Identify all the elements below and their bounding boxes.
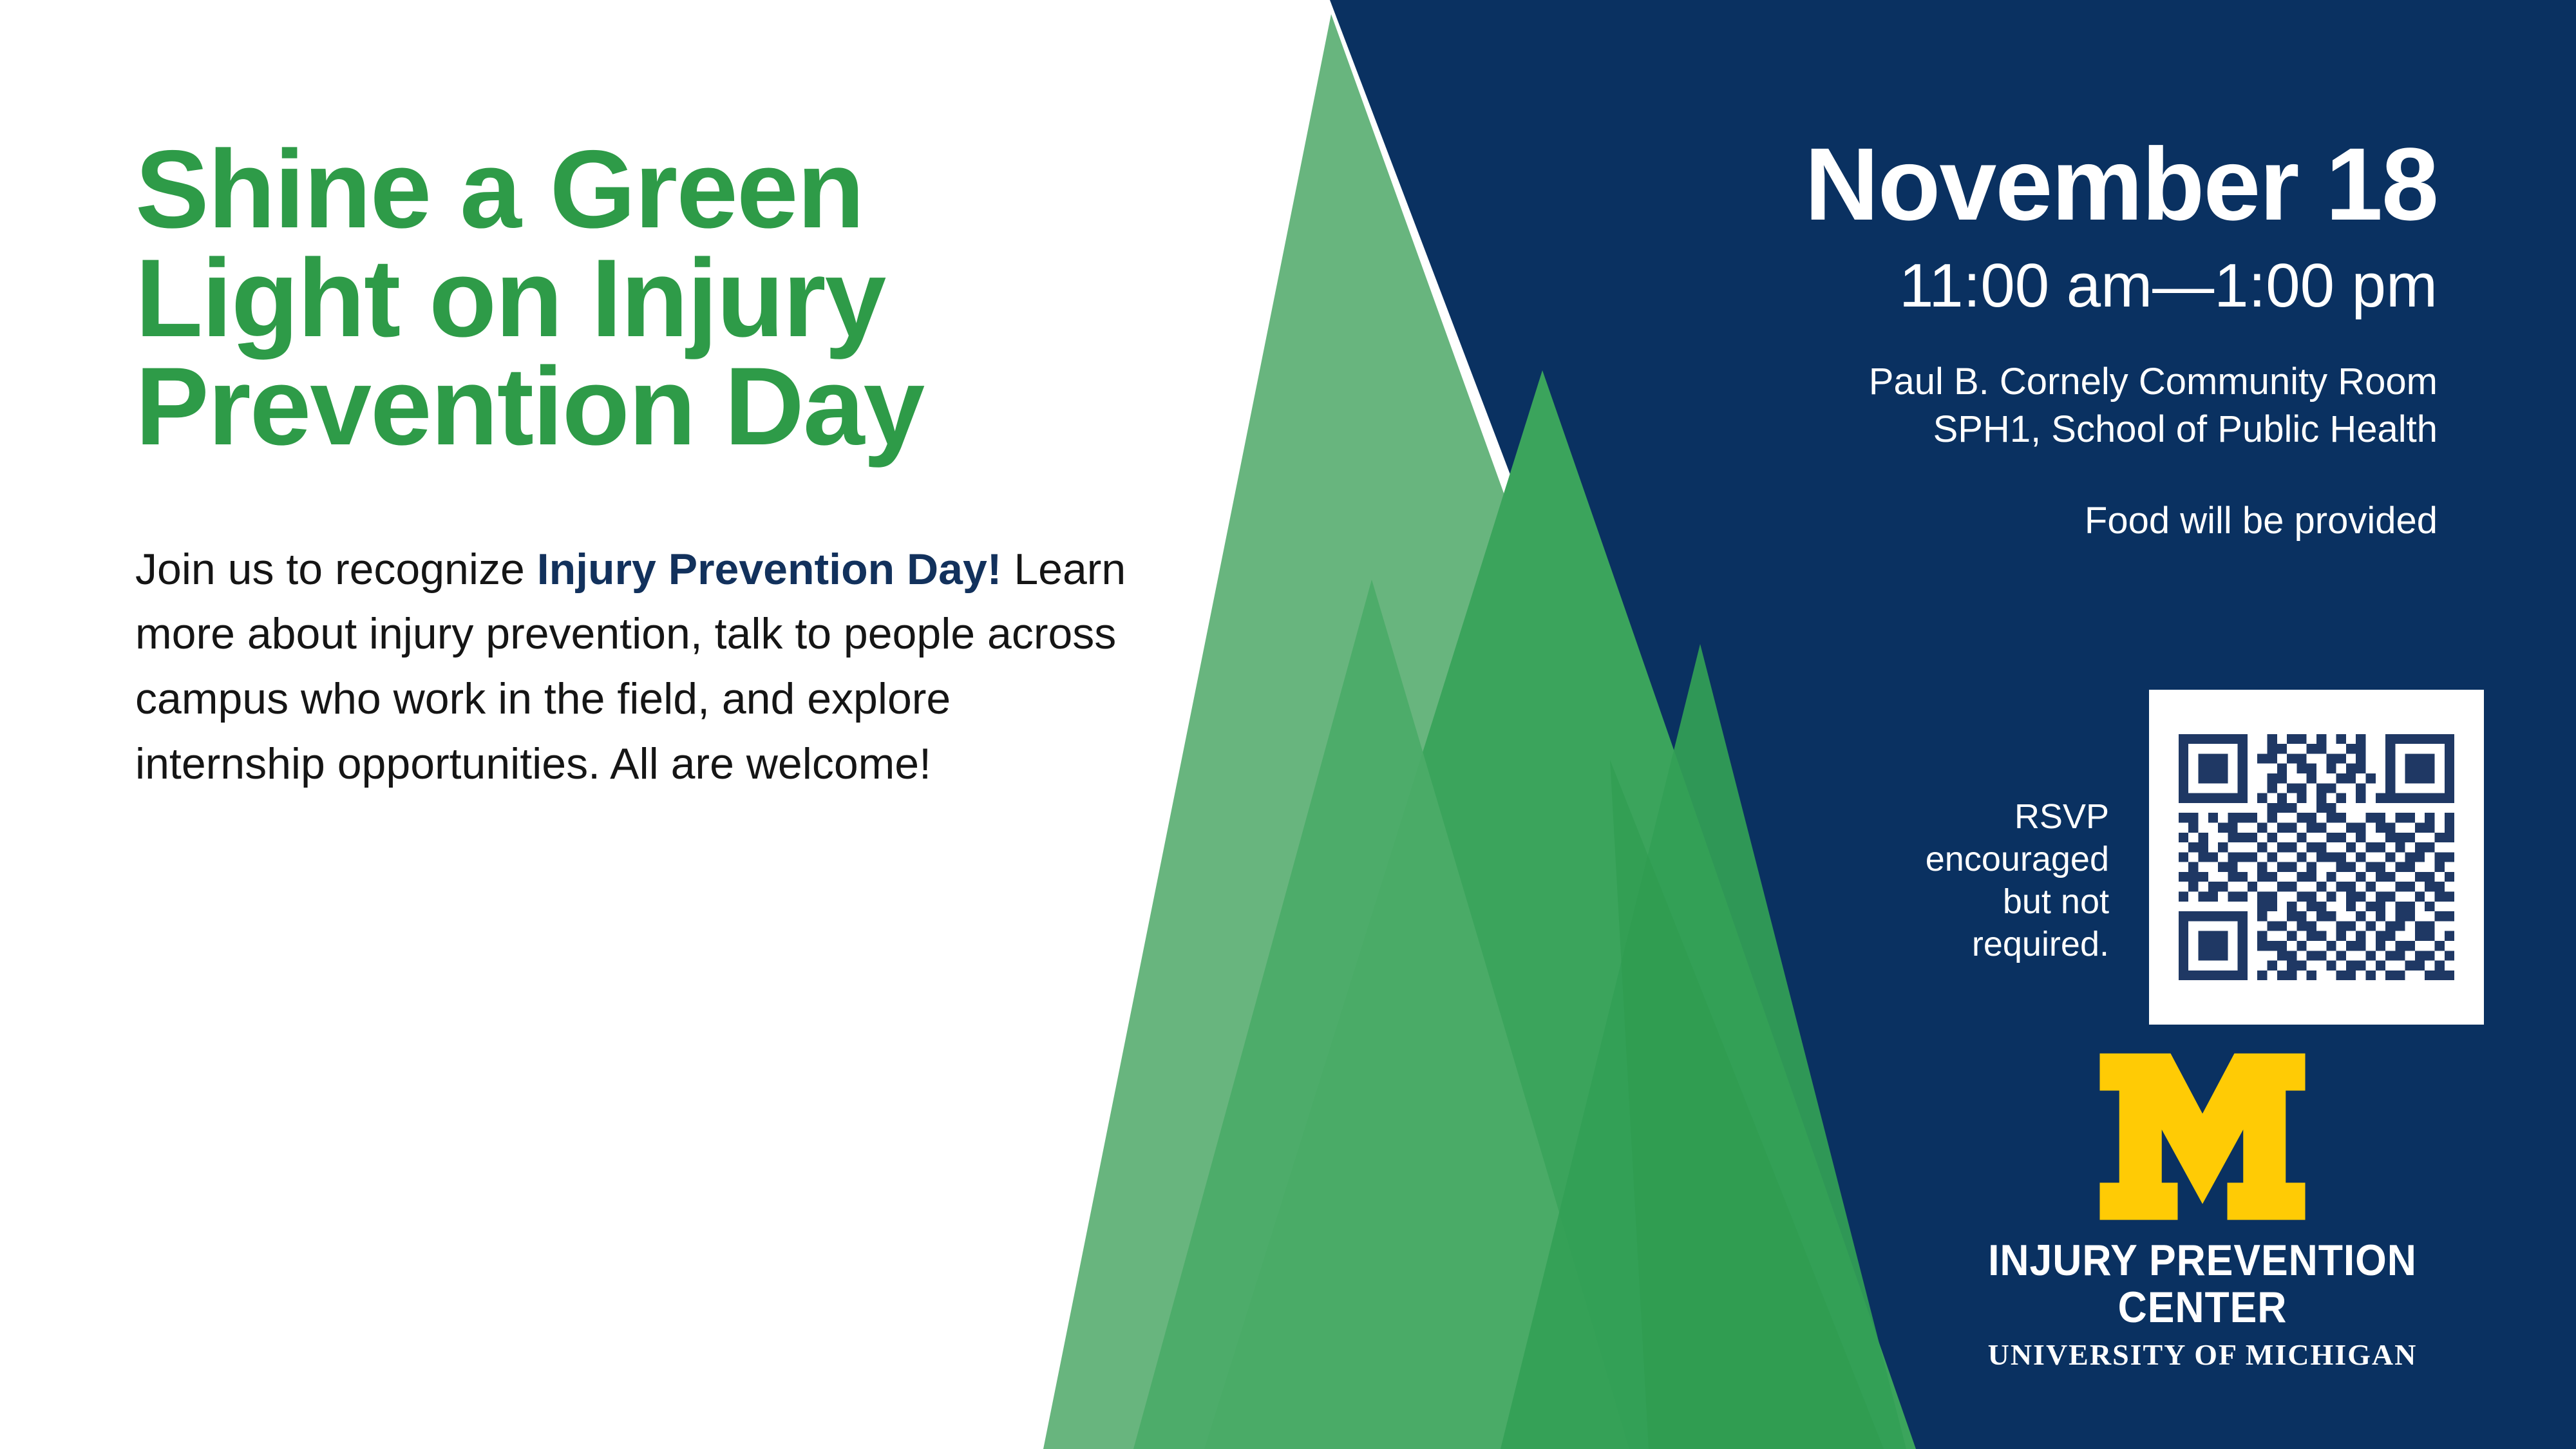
event-date: November 18 bbox=[1523, 133, 2438, 236]
qr-code-icon[interactable] bbox=[2149, 690, 2484, 1025]
event-venue: Paul B. Cornely Community Room SPH1, Sch… bbox=[1523, 358, 2438, 453]
page-title: Shine a Green Light on Injury Prevention… bbox=[135, 135, 1140, 461]
left-content-column: Shine a Green Light on Injury Prevention… bbox=[135, 135, 1140, 796]
food-note: Food will be provided bbox=[1523, 497, 2438, 545]
rsvp-note: RSVP encouraged but not required. bbox=[1897, 796, 2109, 966]
block-m-icon bbox=[2096, 1050, 2309, 1224]
body-text-lead: Injury Prevention Day! bbox=[537, 545, 1002, 594]
event-time: 11:00 am—1:00 pm bbox=[1523, 251, 2438, 321]
body-paragraph: Join us to recognize Injury Prevention D… bbox=[135, 537, 1140, 797]
logo-text-line2: CENTER bbox=[1942, 1285, 2463, 1331]
logo-text-line1: INJURY PREVENTION bbox=[1942, 1238, 2463, 1283]
logo-text-line3: UNIVERSITY OF MICHIGAN bbox=[1919, 1339, 2486, 1372]
right-content-column: November 18 11:00 am—1:00 pm Paul B. Cor… bbox=[1523, 133, 2438, 545]
flyer-canvas: Shine a Green Light on Injury Prevention… bbox=[0, 0, 2576, 1449]
qr-code[interactable] bbox=[2149, 690, 2484, 1025]
rsvp-section: RSVP encouraged but not required. bbox=[1893, 690, 2489, 1025]
logo-lockup: INJURY PREVENTION CENTER UNIVERSITY OF M… bbox=[1919, 1050, 2486, 1372]
body-text-before: Join us to recognize bbox=[135, 545, 537, 594]
